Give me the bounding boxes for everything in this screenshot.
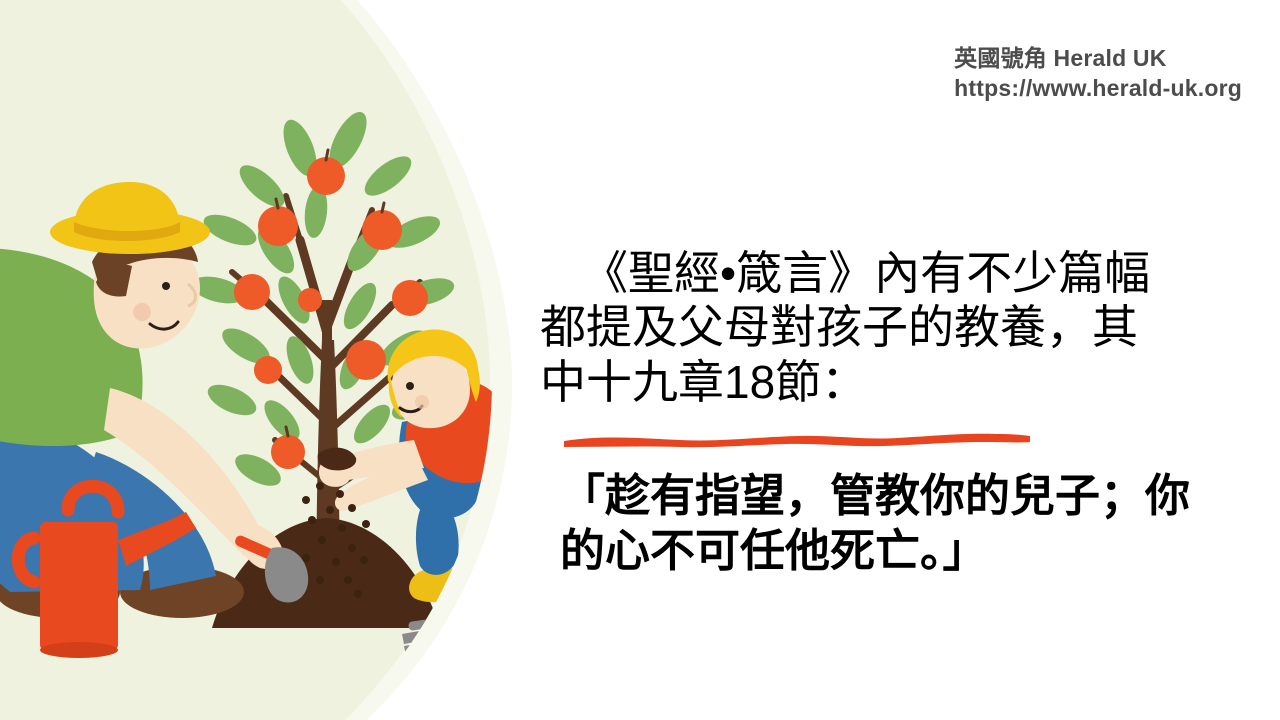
intro-paragraph: 《聖經•箴言》內有不少篇幅都提及父母對孩子的教養，其中十九章18節： [540, 246, 1180, 409]
watering-can-body [40, 522, 118, 650]
brush-divider-icon [562, 429, 1032, 451]
child-cheek [415, 395, 429, 409]
man-eye [162, 282, 170, 290]
slide-root: 英國號角 Herald UK https://www.herald-uk.org… [0, 0, 1280, 720]
scripture-quote: 「趁有指望，管教你的兒子；你的心不可任他死亡。」 [560, 469, 1220, 579]
brush-divider [562, 429, 1032, 451]
text-column: 《聖經•箴言》內有不少篇幅都提及父母對孩子的教養，其中十九章18節： 「趁有指望… [540, 246, 1240, 579]
website-url: https://www.herald-uk.org [954, 74, 1242, 104]
watering-can-base [40, 642, 118, 658]
child-eye [406, 382, 414, 390]
illustration-panel [0, 0, 520, 720]
man-cheek [133, 303, 151, 321]
header-branding: 英國號角 Herald UK https://www.herald-uk.org [954, 44, 1242, 104]
org-name: 英國號角 Herald UK [954, 44, 1242, 74]
